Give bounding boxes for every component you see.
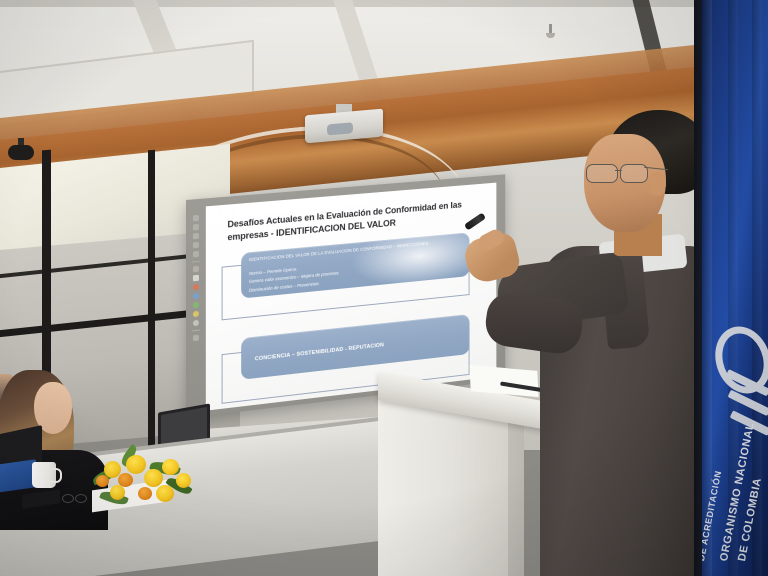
flower: [176, 473, 191, 488]
eyeglasses-icon: [584, 164, 666, 182]
application-dock[interactable]: [190, 213, 202, 386]
glasses-lens: [586, 164, 618, 183]
projector-lens-icon: [327, 122, 353, 135]
fire-sprinkler-icon: [546, 24, 555, 40]
coffee-mug: [32, 462, 56, 488]
launchpad-icon[interactable]: [193, 224, 199, 230]
notes-yellow-icon[interactable]: [193, 311, 199, 318]
projection-screen[interactable]: Desafíos Actuales en la Evaluación de Co…: [186, 174, 505, 418]
mail-icon[interactable]: [193, 242, 199, 249]
folder-icon[interactable]: [193, 320, 199, 327]
flower-arrangement: [88, 445, 196, 517]
safari-icon[interactable]: [193, 233, 199, 240]
presenter-standing: [488, 110, 698, 576]
dock-divider: [192, 330, 200, 332]
organization-flag: ORGANISMO NACIONAL DE ACREDITACIÓN DE CO…: [702, 0, 768, 576]
settings-icon[interactable]: [193, 284, 199, 291]
powerpoint-icon[interactable]: [193, 293, 199, 300]
presentation-slide[interactable]: Desafíos Actuales en la Evaluación de Co…: [206, 183, 497, 411]
flower: [126, 455, 146, 474]
security-camera-icon: [8, 138, 34, 160]
trash-icon[interactable]: [193, 335, 199, 342]
flower: [162, 459, 179, 475]
flower: [96, 475, 109, 487]
flower: [144, 469, 163, 487]
dock-divider: [192, 261, 200, 263]
notes-icon[interactable]: [193, 266, 199, 273]
ceiling-beam: [0, 0, 768, 7]
blue-folder: [0, 459, 36, 493]
calendar-icon[interactable]: [193, 251, 199, 258]
conference-room-photo: Desafíos Actuales en la Evaluación de Co…: [0, 0, 768, 576]
content-box-2-text: CONCIENCIA – SOSTENIBILIDAD - REPUTACION: [255, 342, 384, 362]
flower: [156, 485, 174, 502]
excel-icon[interactable]: [193, 302, 199, 309]
appstore-icon[interactable]: [193, 275, 199, 282]
flower: [110, 485, 125, 500]
window-mullion: [148, 150, 155, 451]
eyeglasses-on-table: [62, 494, 90, 502]
flower: [138, 487, 152, 500]
finder-icon[interactable]: [193, 215, 199, 221]
